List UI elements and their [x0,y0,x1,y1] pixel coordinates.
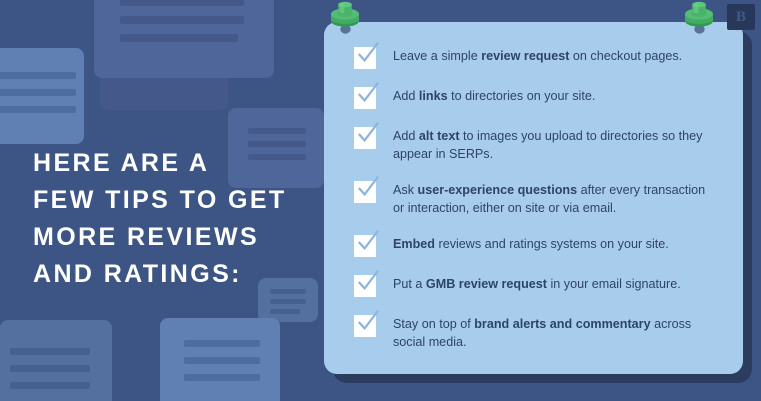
page-title: Here are a few tips to get more reviews … [33,145,323,293]
plain-text: Add [393,129,419,143]
checklist: Leave a simple review request on checkou… [354,46,729,351]
plain-text: Leave a simple [393,49,481,63]
bubble-text-line [10,365,90,372]
checkbox-checked-icon[interactable] [354,275,376,297]
plain-text: reviews and ratings systems on your site… [435,237,669,251]
checklist-item[interactable]: Add alt text to images you upload to dir… [354,126,729,163]
bubble-tail [148,77,167,103]
checklist-item-text: Add alt text to images you upload to dir… [393,126,717,163]
checklist-item-text: Stay on top of brand alerts and commenta… [393,314,717,351]
bubble-text-line [120,16,244,24]
plain-text: in your email signature. [547,277,681,291]
checklist-item-text: Ask user-experience questions after ever… [393,180,717,217]
checkbox-checked-icon[interactable] [354,47,376,69]
bubble-text-line [270,299,306,304]
bubble-text-line [10,382,90,389]
plain-text: Add [393,89,419,103]
checklist-item-text: Embed reviews and ratings systems on you… [393,234,669,254]
tips-card: Leave a simple review request on checkou… [324,22,743,374]
checkbox-checked-icon[interactable] [354,87,376,109]
bubble-text-line [184,340,260,347]
bubble-text-line [0,89,76,96]
bubble-text-line [120,0,244,6]
bubble-text-line [184,357,260,364]
brand-badge-letter: B [736,10,746,25]
bubble-text-line [270,309,300,314]
bubble-text-line [10,348,90,355]
speech-bubble-bottom-mid [160,318,280,401]
emphasis-text: user-experience questions [418,183,578,197]
bubble-tail [282,321,291,334]
checklist-item[interactable]: Ask user-experience questions after ever… [354,180,729,217]
pushpin-icon-left [325,0,365,48]
checklist-item[interactable]: Leave a simple review request on checkou… [354,46,729,69]
speech-bubble-bottom-left [0,320,112,401]
infographic-canvas: Here are a few tips to get more reviews … [0,0,761,401]
bubble-text-line [0,72,76,79]
bubble-text-line [0,106,76,113]
checklist-item[interactable]: Embed reviews and ratings systems on you… [354,234,729,257]
emphasis-text: brand alerts and commentary [474,317,650,331]
bubble-text-line [120,34,238,42]
emphasis-text: review request [481,49,569,63]
plain-text: on checkout pages. [569,49,682,63]
plain-text: Put a [393,277,426,291]
pushpin-icon-right [679,0,719,48]
checkbox-checked-icon[interactable] [354,315,376,337]
plain-text: to directories on your site. [448,89,596,103]
emphasis-text: alt text [419,129,460,143]
speech-bubble-top-main [94,0,274,78]
checklist-item-text: Leave a simple review request on checkou… [393,46,682,66]
bubble-text-line [184,374,260,381]
bubble-tail [0,143,12,169]
checkbox-checked-icon[interactable] [354,127,376,149]
brand-badge: B [727,4,755,30]
speech-bubble-left [0,48,84,144]
checklist-item-text: Add links to directories on your site. [393,86,595,106]
checklist-item[interactable]: Stay on top of brand alerts and commenta… [354,314,729,351]
checkbox-checked-icon[interactable] [354,181,376,203]
plain-text: Ask [393,183,418,197]
checklist-item[interactable]: Add links to directories on your site. [354,86,729,109]
checklist-item-text: Put a GMB review request in your email s… [393,274,681,294]
checkbox-checked-icon[interactable] [354,235,376,257]
checklist-item[interactable]: Put a GMB review request in your email s… [354,274,729,297]
plain-text: Stay on top of [393,317,474,331]
bubble-text-line [248,128,306,134]
emphasis-text: GMB review request [426,277,547,291]
emphasis-text: Embed [393,237,435,251]
emphasis-text: links [419,89,448,103]
